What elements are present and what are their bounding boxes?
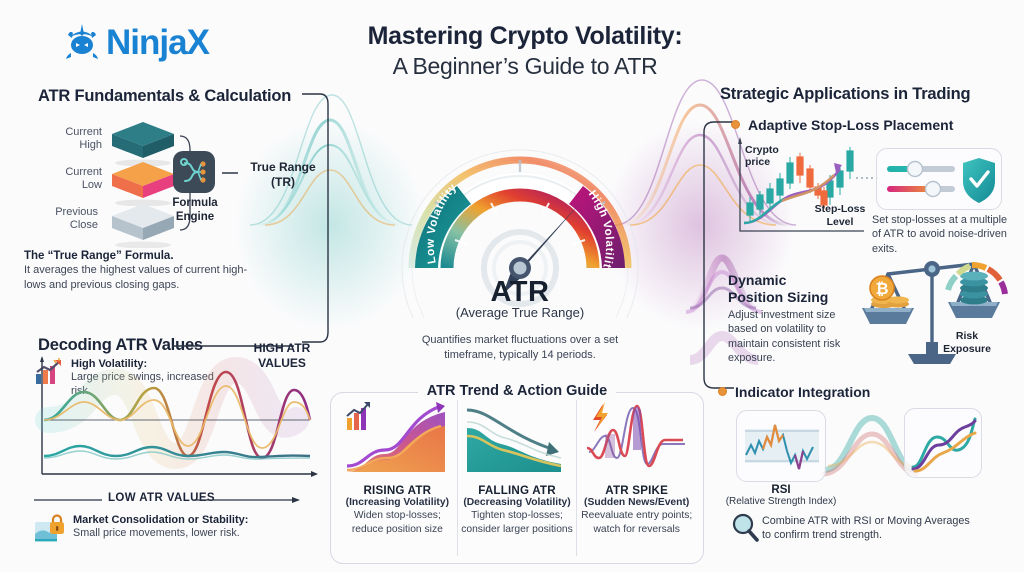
low-atr-axis-rule — [34, 496, 304, 504]
guide-heading-spike: ATR SPIKE — [580, 484, 693, 497]
formula-note-heading: The “True Range” Formula. — [24, 250, 254, 262]
rsi-label-full: (Relative Strength Index) — [716, 496, 846, 507]
guide-body-spike: Reevaluate entry points;watch for revers… — [580, 509, 693, 536]
engine-to-tr-connector — [222, 170, 240, 176]
guide-art-rising — [341, 400, 454, 484]
stability-bullet: Market Consolidation or Stability: Small… — [34, 514, 294, 544]
bullet-dot-stop-loss — [731, 120, 740, 129]
moving-average-chart-art — [905, 409, 983, 479]
guide-column-spike: ATR SPIKE (Sudden News/Event) Reevaluate… — [576, 400, 696, 556]
spike-pulse-icon — [581, 400, 693, 480]
brand-logo: NinjaX — [62, 22, 209, 62]
section-heading-fundamentals: ATR Fundamentals & Calculation — [38, 87, 291, 106]
magnifier-icon — [730, 512, 760, 542]
guide-heading-rising: RISING ATR — [341, 484, 454, 497]
guide-sub-rising: (Increasing Volatility) — [341, 497, 454, 508]
stability-heading: Market Consolidation or Stability: — [73, 514, 248, 526]
section-heading-strategic: Strategic Applications in Trading — [720, 85, 970, 104]
svg-text:₿: ₿ — [875, 280, 888, 298]
atr-trend-guide-columns: RISING ATR (Increasing Volatility) Widen… — [338, 400, 696, 556]
formula-note-body: It averages the highest values of curren… — [24, 263, 254, 292]
shield-check-icon — [963, 158, 995, 203]
rsi-label-abbrev: RSI — [716, 484, 846, 496]
guide-column-rising: RISING ATR (Increasing Volatility) Widen… — [338, 400, 457, 556]
title-line-1: Mastering Crypto Volatility: — [330, 22, 720, 52]
formula-engine-icon — [172, 150, 216, 194]
rsi-label: RSI (Relative Strength Index) — [716, 484, 846, 507]
formula-engine-label: FormulaEngine — [160, 196, 230, 224]
lock-icon — [34, 514, 66, 544]
guide-body-falling: Tighten stop-losses;consider larger posi… — [461, 509, 574, 536]
gauge-description: Quantifies market fluctuations over a se… — [400, 333, 640, 363]
guide-body-rising: Widen stop-losses;reduce position size — [341, 509, 454, 536]
guide-sub-falling: (Decreasing Volatility) — [461, 497, 574, 508]
input-label-current-low: CurrentLow — [40, 166, 102, 192]
guide-column-falling: FALLING ATR (Decreasing Volatility) Tigh… — [457, 400, 577, 556]
gauge-subtitle: (Average True Range) — [395, 305, 645, 320]
stop-loss-body: Set stop-losses at a multiple of ATR to … — [872, 213, 1014, 256]
guide-sub-spike: (Sudden News/Event) — [580, 497, 693, 508]
brand-name: NinjaX — [106, 25, 209, 60]
input-label-previous-close: PreviousClose — [36, 206, 98, 232]
falling-area-chart-icon — [461, 400, 573, 480]
rising-area-chart-icon — [341, 400, 453, 480]
subheading-position-sizing: DynamicPosition Sizing — [728, 272, 848, 306]
risk-exposure-label: RiskExposure — [932, 330, 1002, 356]
rsi-chart-card[interactable] — [736, 410, 826, 482]
atr-trend-guide-title: ATR Trend & Action Guide — [418, 383, 616, 399]
subheading-stop-loss: Adaptive Stop-Loss Placement — [748, 117, 953, 133]
position-sizing-body: Adjust investment size based on volatili… — [728, 308, 854, 366]
ninja-helmet-icon — [62, 22, 102, 62]
title-line-2: A Beginner’s Guide to ATR — [330, 52, 720, 82]
page-title: Mastering Crypto Volatility: A Beginner’… — [330, 22, 720, 81]
bullet-dot-indicator — [718, 387, 727, 396]
rsi-chart-art — [737, 411, 827, 483]
stop-loss-level-label: Step-LossLevel — [806, 203, 874, 228]
stop-loss-settings-card[interactable] — [876, 148, 1002, 210]
crypto-price-axis-label: Cryptoprice — [745, 144, 795, 169]
input-label-current-high: CurrentHigh — [40, 126, 102, 152]
infographic-canvas: NinjaX Mastering Crypto Volatility: A Be… — [0, 0, 1024, 572]
stability-body: Small price movements, lower risk. — [73, 526, 248, 540]
subheading-indicator-integration: Indicator Integration — [735, 384, 870, 400]
true-range-output-label: True Range(TR) — [240, 160, 326, 190]
true-range-formula-note: The “True Range” Formula. It averages th… — [24, 250, 254, 292]
atr-trend-guide-title-wrap: ATR Trend & Action Guide — [330, 382, 704, 400]
guide-heading-falling: FALLING ATR — [461, 484, 574, 497]
guide-art-spike — [580, 400, 693, 484]
stop-loss-settings-art — [877, 149, 1003, 211]
moving-average-chart-card[interactable] — [904, 408, 982, 478]
indicator-integration-body: Combine ATR with RSI or Moving Averages … — [762, 514, 972, 543]
guide-art-falling — [461, 400, 574, 484]
decoding-atr-chart — [28, 352, 328, 502]
